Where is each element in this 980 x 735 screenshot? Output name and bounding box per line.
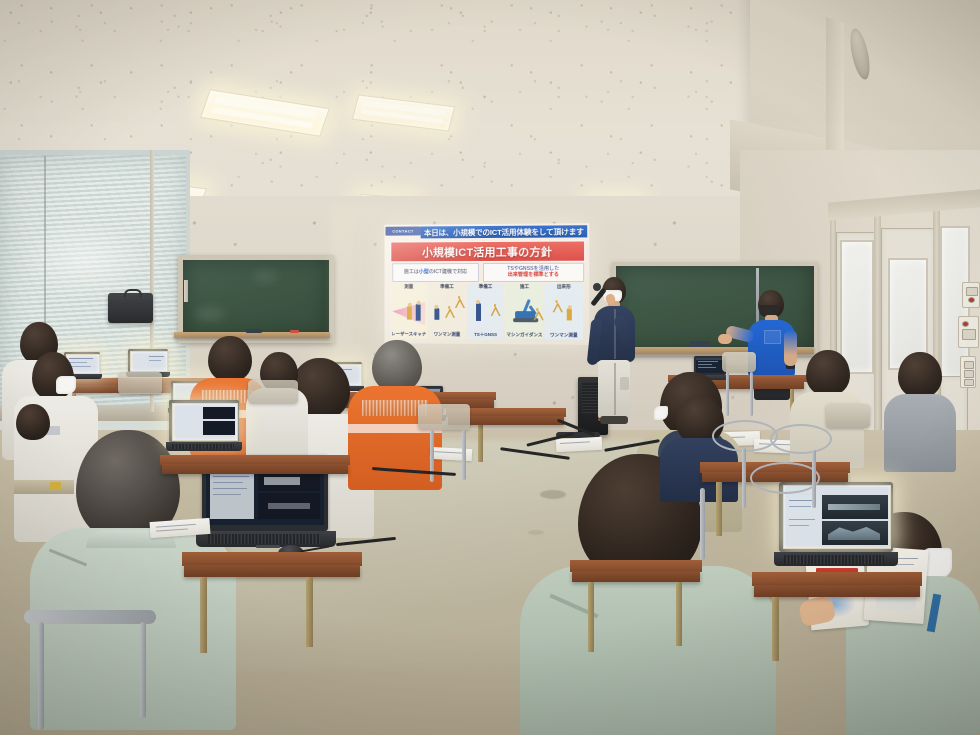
slide-logo: CONTACT [385, 226, 420, 235]
foreground-desk-left-leg-2 [306, 577, 313, 647]
chair-back-1[interactable] [826, 404, 870, 428]
chair-ring-2[interactable] [770, 424, 832, 454]
laser-scanner-icon [390, 290, 427, 332]
mid-desk [162, 464, 348, 474]
microphone-head [593, 283, 601, 291]
chair-ring-3[interactable] [750, 462, 820, 494]
slide-title-bar: 小規模ICT活用工事の方針 [390, 240, 585, 262]
slide-box-right: TSやGNSSを活用した出来管理を標準とする [483, 263, 584, 282]
front-chair-1-legs-2 [750, 372, 753, 416]
presenter-trousers-seam [614, 363, 616, 415]
classroom-photo-scene: CONTACT 本日は、小規模でのICT活用体験をして頂けます 小規模ICT活用… [0, 0, 980, 735]
slide-col-caption: レーザースキャナ [391, 331, 426, 337]
chair-back-2[interactable] [418, 404, 470, 430]
attendee-white-right [246, 352, 310, 462]
slide-header-bar: 本日は、小規模でのICT活用体験をして頂けます [421, 225, 588, 238]
slide-column-prep2: 準備工 TS＋GNSS [467, 283, 505, 339]
chair-back-4[interactable] [118, 372, 162, 394]
attendee-foreground-center [520, 454, 780, 735]
bag-handle [124, 289, 142, 297]
chair-leg-5 [462, 430, 466, 480]
attendee-mask [56, 376, 76, 394]
foreground-chair-left-leg-2 [140, 622, 146, 718]
window-light-glow [20, 220, 150, 300]
slide-box-left-pre: 施工は [404, 269, 419, 275]
slide-box-left-highlight: 小型 [419, 269, 429, 275]
chair-leg-3 [700, 488, 705, 560]
switch-indicator-2 [962, 321, 969, 327]
ts-gnss-icon [467, 290, 505, 332]
presenter-shoes [600, 416, 628, 424]
attendee-shirt [884, 394, 956, 472]
screen-3d-strip [828, 504, 880, 510]
attendee-head [806, 350, 850, 396]
chair-leg-1 [742, 448, 746, 508]
laptop-foreground-right[interactable] [774, 482, 898, 578]
attendee-right-grey [884, 352, 958, 472]
attendee-head [898, 352, 942, 398]
attendee-shirt [520, 566, 776, 735]
foreground-desk-left-top [182, 552, 362, 566]
slide-col-caption: TS＋GNSS [474, 332, 497, 338]
right-desk-2 [572, 571, 700, 582]
assistant-hand [718, 334, 732, 344]
laptop-mid-left[interactable] [166, 400, 242, 458]
right-desk-3-leg [716, 482, 722, 536]
outlet-panel[interactable] [960, 356, 976, 388]
slide-col-caption: ワンマン測量 [434, 332, 461, 338]
slide-column-construction: 施工 マシンガイダンス [505, 283, 543, 339]
slide-column-survey: 測量 レーザースキャナ [390, 283, 427, 339]
foreground-chair-left-leg [38, 622, 44, 730]
projection-screen: CONTACT 本日は、小規模でのICT活用体験をして頂けます 小規模ICT活用… [384, 223, 589, 345]
one-man-survey-icon [428, 290, 465, 332]
slide-column-prep1: 準備工 ワンマン測量 [428, 283, 465, 339]
light-switch-panel-2[interactable] [958, 316, 979, 348]
foreground-desk-left-leg [200, 577, 207, 653]
excavator-icon [505, 290, 543, 332]
switch-button[interactable] [966, 287, 978, 296]
blackboard-left-side-rail [184, 280, 188, 302]
outlet-slot-2 [964, 370, 974, 378]
switch-indicator [968, 297, 975, 303]
outlet-slot-3 [964, 379, 974, 386]
slide-box-right-line2: 出来管理を標準とする [508, 271, 559, 277]
slide-column-asbuilt: 出来形 ワンマン測量 [545, 283, 584, 340]
right-desk-leg [772, 597, 779, 661]
presenter-pocket [620, 377, 629, 390]
chair-leg-2 [812, 450, 816, 508]
slide-col-caption: マシンガイダンス [506, 332, 542, 338]
chair-ring-1[interactable] [712, 420, 778, 452]
one-man-survey-icon [545, 290, 584, 333]
attendee-head [372, 340, 422, 392]
right-desk-top [752, 572, 922, 586]
blackboard-right-eraser[interactable] [690, 341, 710, 347]
outlet-slot-1 [964, 361, 974, 369]
assistant-shirt-pocket [764, 330, 781, 344]
slide-box-left: 施工は小型のICT建機で対応 [392, 263, 479, 282]
light-switch-panel-1[interactable] [962, 282, 980, 308]
switch-button-2[interactable] [962, 329, 976, 340]
equipment-bag[interactable] [108, 293, 153, 323]
blackboard-left-chalk[interactable] [290, 330, 299, 333]
foreground-desk-left [184, 565, 360, 577]
chair-back-3[interactable] [248, 380, 298, 404]
slide-logo-text: CONTACT [385, 226, 420, 235]
right-desk-2-leg [588, 582, 594, 652]
slide-columns: 測量 レーザースキャナ 準備工 ワンマン測量 準備工 [390, 283, 583, 340]
foreground-chair-left[interactable] [24, 610, 156, 624]
front-chair-1[interactable] [722, 352, 756, 372]
handout-3[interactable] [556, 437, 603, 452]
right-desk-2-leg-2 [676, 582, 682, 646]
slide-col-caption: ワンマン測量 [550, 332, 578, 338]
laptop-trackpad[interactable] [256, 545, 280, 548]
blackboard-left-eraser[interactable] [246, 329, 262, 333]
right-desk [754, 585, 920, 597]
slide-box-left-post: のICT建機で対応 [429, 269, 467, 275]
